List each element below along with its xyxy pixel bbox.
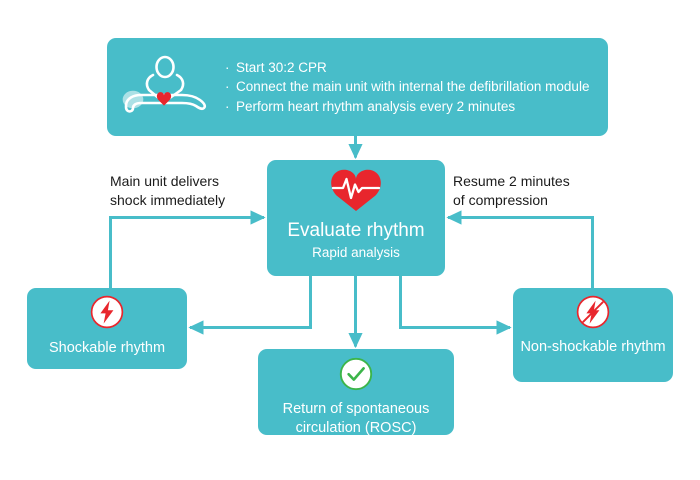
edge-label-resume-compression: Resume 2 minutes of compression (453, 172, 570, 210)
lightning-bolt-crossed-icon (575, 294, 611, 335)
check-circle-icon (338, 356, 374, 397)
node-rosc[interactable]: Return of spontaneous circulation (ROSC) (258, 349, 454, 435)
edge-label-shockable: Main unit delivers shock immediately (110, 172, 225, 210)
edge-shockable-to-evaluate (111, 218, 265, 289)
initial-care-bullet-list: · Start 30:2 CPR · Connect the main unit… (225, 58, 608, 117)
node-non-shockable[interactable]: Non-shockable rhythm (513, 288, 673, 382)
evaluate-rhythm-title: Evaluate rhythm (287, 219, 424, 243)
lightning-bolt-icon (89, 294, 125, 335)
node-shockable[interactable]: Shockable rhythm (27, 288, 187, 369)
heart-ecg-icon (328, 168, 384, 217)
bullet-marker: · (225, 58, 236, 78)
cpr-rescuer-icon (107, 54, 225, 120)
node-initial-care[interactable]: · Start 30:2 CPR · Connect the main unit… (107, 38, 608, 136)
edge-evaluate-to-shockable (190, 276, 311, 328)
list-item: · Connect the main unit with internal th… (225, 77, 596, 97)
node-non-shockable-label: Non-shockable rhythm (520, 338, 665, 357)
list-item: · Perform heart rhythm analysis every 2 … (225, 97, 596, 117)
bullet-text: Perform heart rhythm analysis every 2 mi… (236, 97, 596, 117)
edge-evaluate-to-non-shockable (401, 276, 511, 328)
bullet-text: Connect the main unit with internal the … (236, 77, 596, 97)
list-item: · Start 30:2 CPR (225, 58, 596, 78)
flowchart-canvas: · Start 30:2 CPR · Connect the main unit… (0, 0, 700, 480)
node-evaluate-rhythm[interactable]: Evaluate rhythm Rapid analysis (267, 160, 445, 276)
node-shockable-label: Shockable rhythm (49, 339, 165, 358)
edge-non-shockable-to-evaluate (448, 218, 593, 289)
bullet-text: Start 30:2 CPR (236, 58, 596, 78)
evaluate-rhythm-subtitle: Rapid analysis (312, 244, 400, 262)
bullet-marker: · (225, 77, 236, 97)
node-rosc-label: Return of spontaneous circulation (ROSC) (258, 400, 454, 438)
bullet-marker: · (225, 97, 236, 117)
